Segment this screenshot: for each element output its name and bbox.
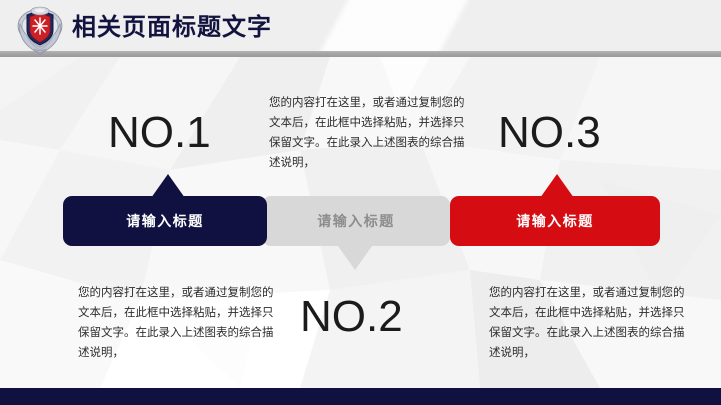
pointer-triangle-down-gray bbox=[338, 246, 372, 270]
description-bottom-right: 您的内容打在这里，或者通过复制您的文本后，在此框中选择粘贴，并选择只保留文字。在… bbox=[489, 282, 685, 362]
bar-segment-3-label: 请输入标题 bbox=[450, 196, 660, 246]
slide-canvas: 相关页面标题文字 NO.1 NO.3 NO.2 您的内容打在这里，或者通过复制您… bbox=[0, 0, 721, 405]
header-divider-rule bbox=[0, 51, 721, 57]
page-title: 相关页面标题文字 bbox=[72, 11, 272, 43]
bar-segment-1[interactable]: 请输入标题 bbox=[63, 196, 267, 246]
description-top: 您的内容打在这里，或者通过复制您的文本后，在此框中选择粘贴，并选择只保留文字。在… bbox=[269, 92, 465, 172]
bar-segment-2-label: 请输入标题 bbox=[262, 196, 450, 246]
callout-no2: NO.2 bbox=[300, 292, 403, 342]
callout-no3: NO.3 bbox=[498, 108, 601, 158]
bar-segment-2[interactable]: 请输入标题 bbox=[262, 196, 450, 246]
bar-segment-1-label: 请输入标题 bbox=[63, 196, 267, 246]
bar-segment-3[interactable]: 请输入标题 bbox=[450, 196, 660, 246]
footer-band bbox=[0, 388, 721, 405]
pointer-triangle-up-red bbox=[540, 174, 574, 198]
segmented-bar: 请输入标题 请输入标题 请输入标题 bbox=[63, 196, 660, 246]
description-bottom-left: 您的内容打在这里，或者通过复制您的文本后，在此框中选择粘贴，并选择只保留文字。在… bbox=[78, 282, 274, 362]
callout-no1: NO.1 bbox=[108, 108, 211, 158]
pointer-triangle-up-navy bbox=[151, 174, 185, 198]
police-badge-emblem bbox=[16, 4, 64, 56]
